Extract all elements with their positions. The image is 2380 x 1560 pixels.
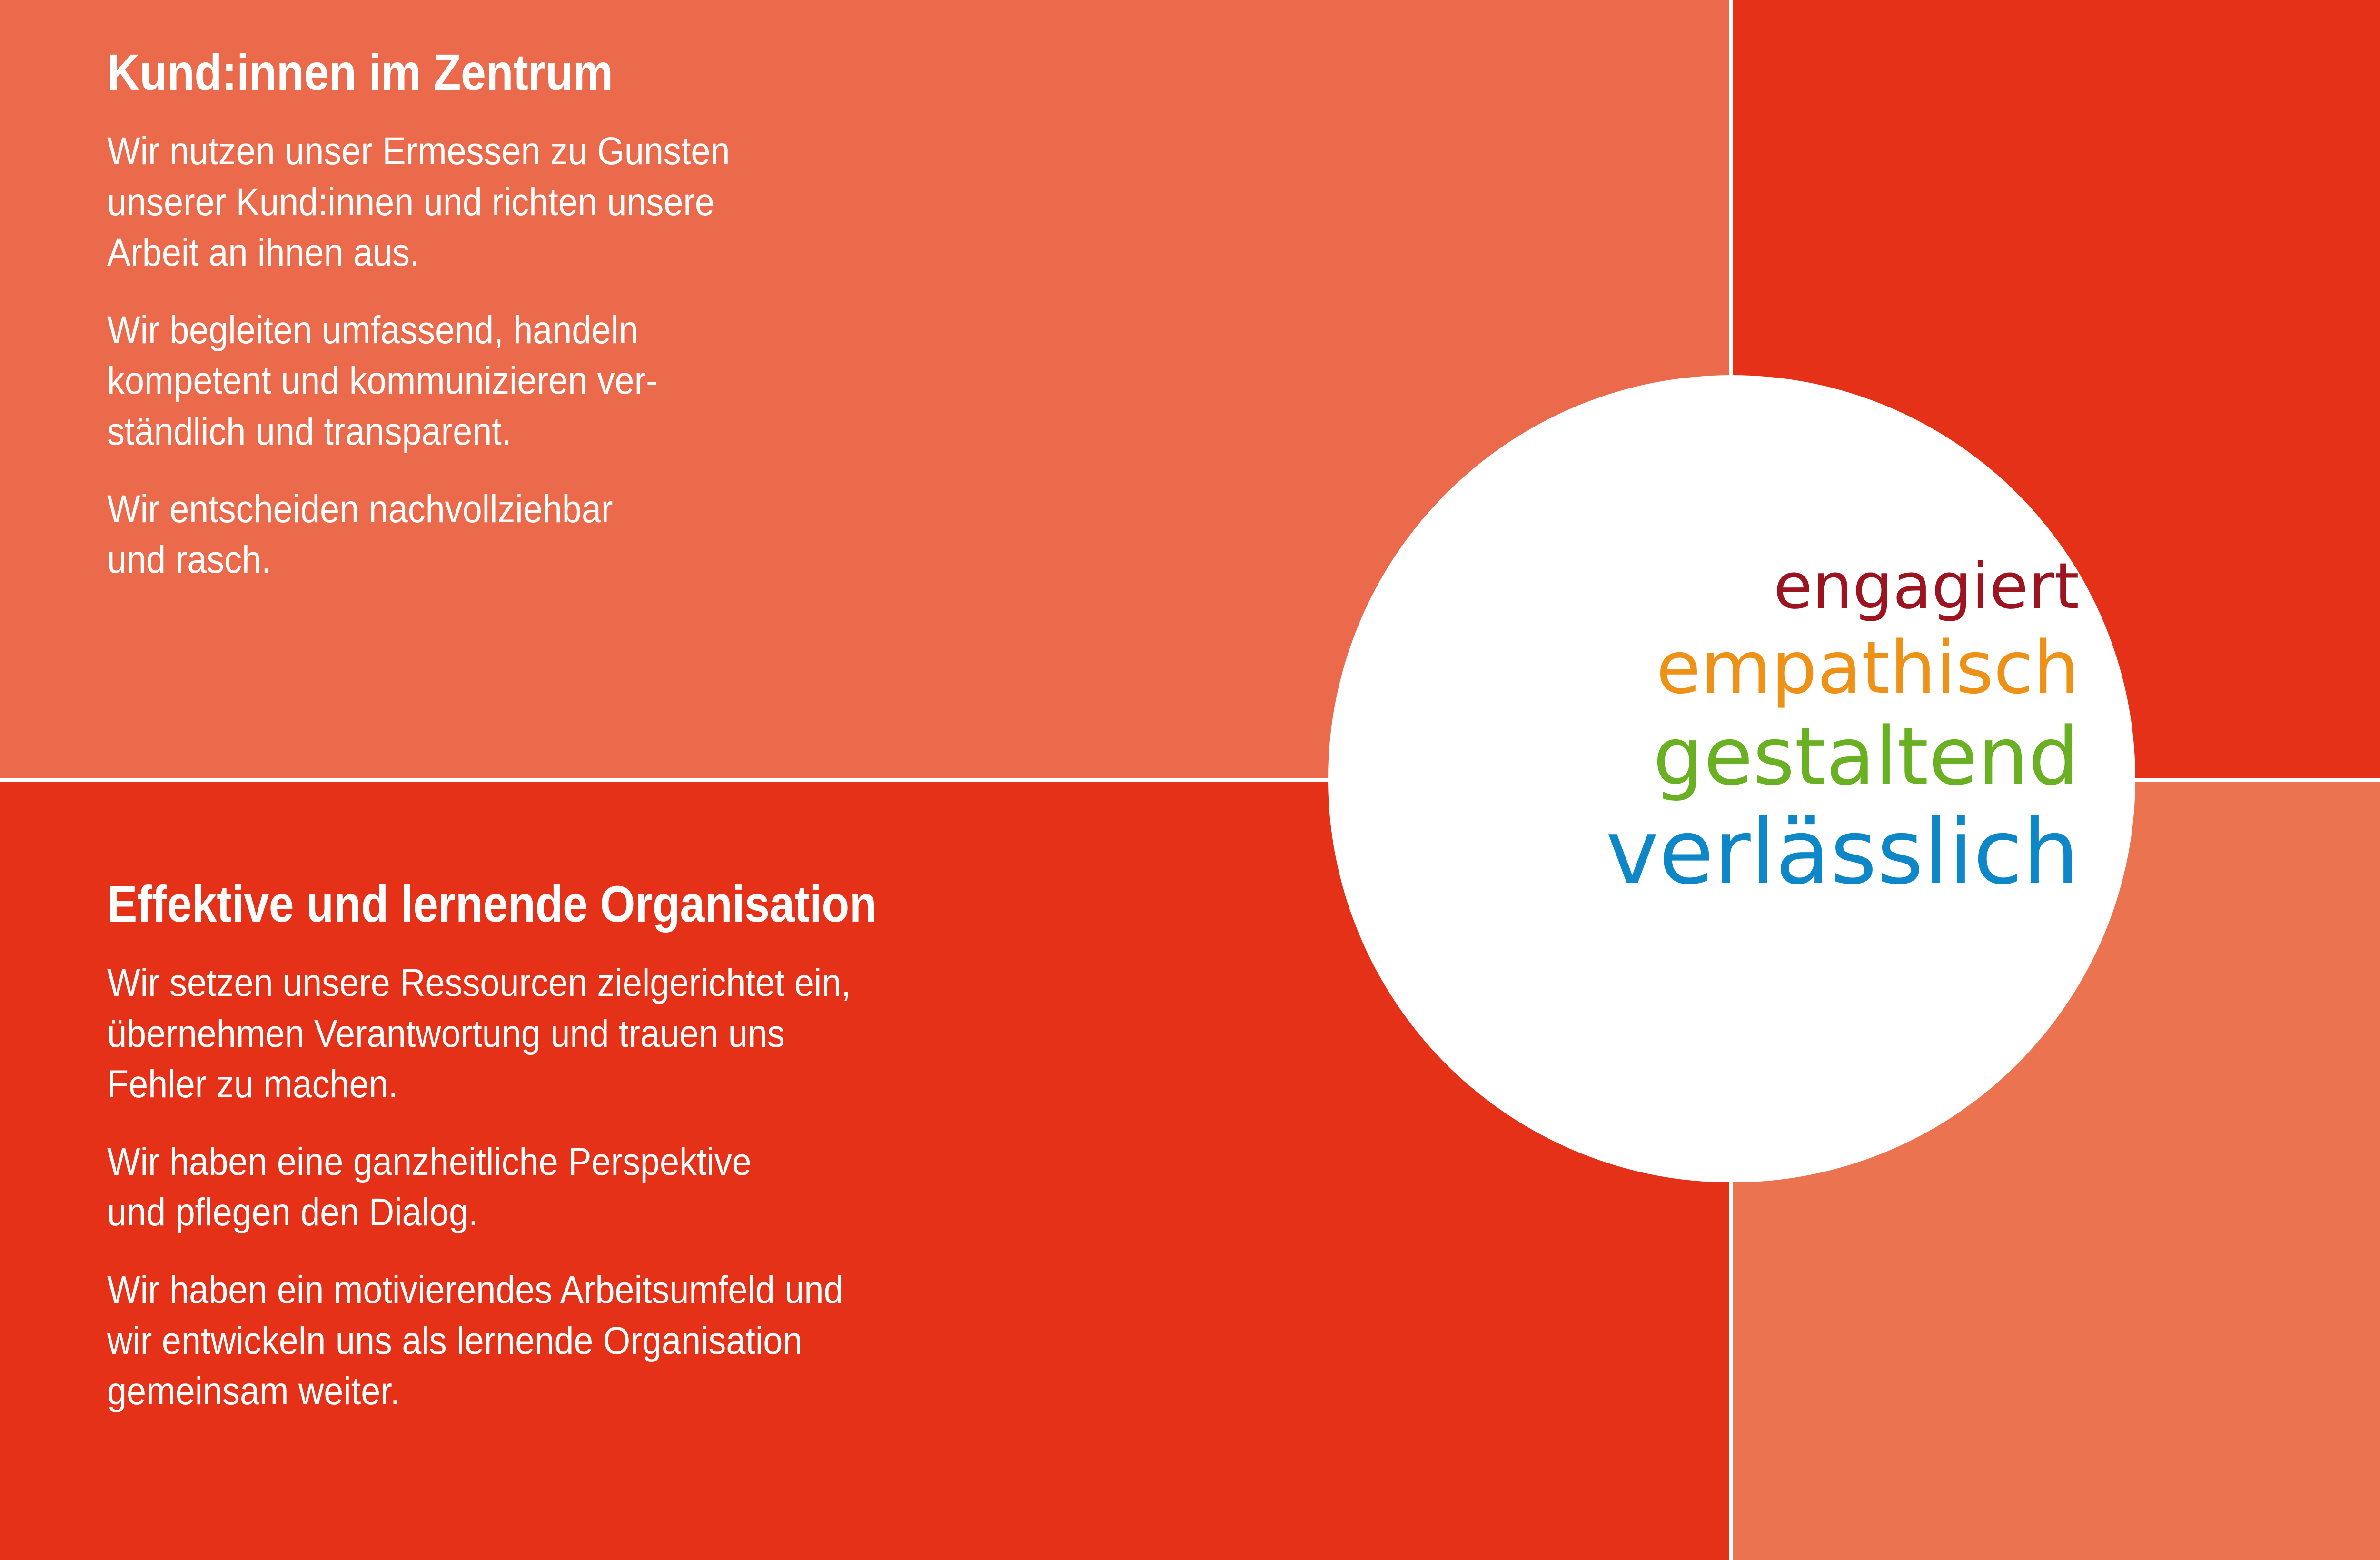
quadrant-content: Effektive und lernende Organisation Wir … <box>107 874 1145 1417</box>
quadrant-paragraph: Wir haben ein motivierendes Arbeitsumfel… <box>107 1265 1041 1417</box>
claim-empathisch: empathisch <box>1328 632 2079 704</box>
claim-gestaltend: gestaltend <box>1328 716 2079 796</box>
quadrant-paragraph: Wir haben eine ganzheitliche Perspektive… <box>107 1137 1041 1238</box>
claims-list: engagiert empathisch gestaltend verlässl… <box>1328 555 2135 897</box>
quadrant-paragraph: Wir nutzen unser Ermessen zu Gunsten uns… <box>107 126 857 278</box>
values-infographic: Kund:innen im Zentrum Wir nutzen unser E… <box>0 0 2380 1560</box>
claim-engagiert: engagiert <box>1328 555 2079 618</box>
claim-verlaesslich: verlässlich <box>1328 808 2079 897</box>
quadrant-paragraph: Wir begleiten umfassend, handeln kompete… <box>107 305 857 457</box>
quadrant-content: Kund:innen im Zentrum Wir nutzen unser E… <box>107 43 940 586</box>
center-circle: engagiert empathisch gestaltend verlässl… <box>1328 375 2135 1182</box>
quadrant-paragraph: Wir setzen unsere Ressourcen zielgericht… <box>107 958 1041 1110</box>
quadrant-title: Kund:innen im Zentrum <box>107 43 840 101</box>
quadrant-paragraph: Wir entscheiden nachvollziehbar und rasc… <box>107 484 857 586</box>
quadrant-title: Effektive und lernende Organisation <box>107 874 1020 933</box>
